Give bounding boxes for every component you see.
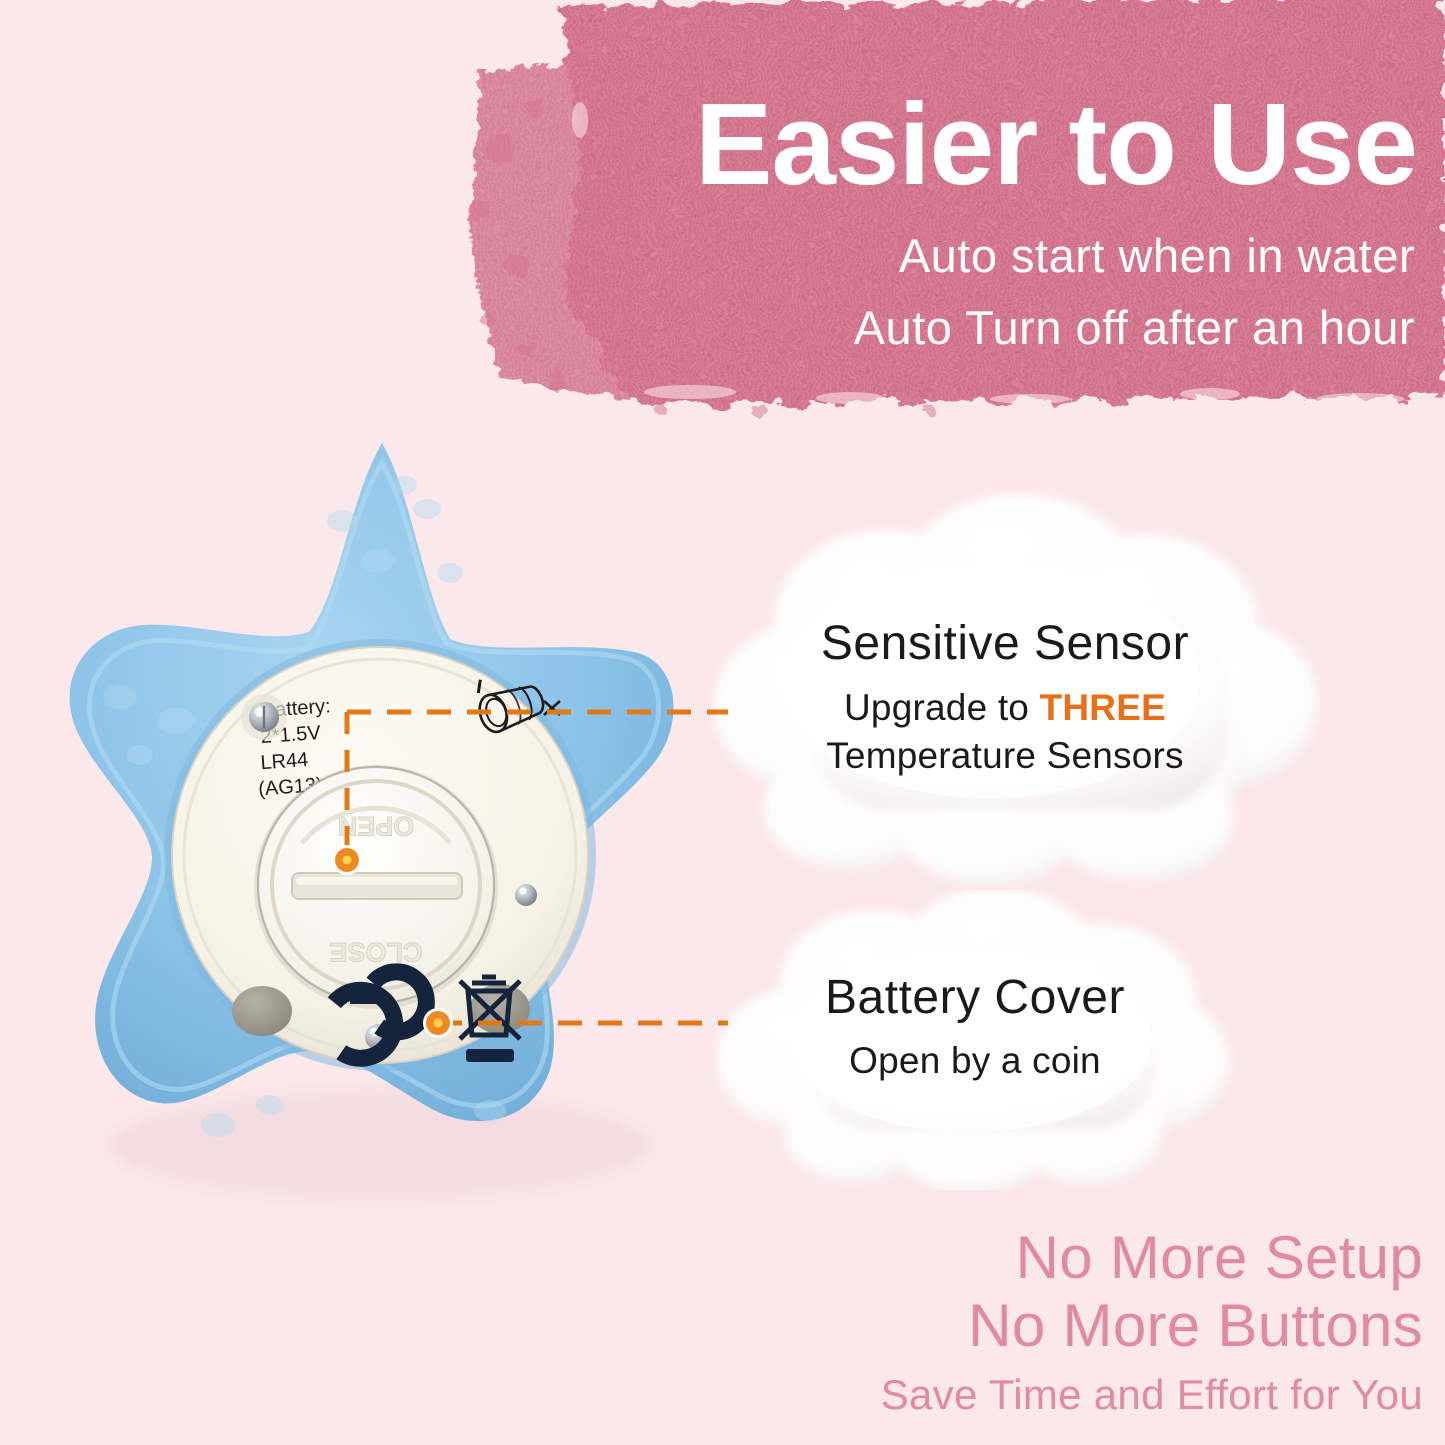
header-subtitle-1: Auto start when in water: [899, 228, 1415, 283]
callout-highlight-three: THREE: [1040, 687, 1166, 728]
product-image-star-thermometer: Battery: 2*1.5V LR44 (AG13): [20, 425, 760, 1225]
cover-open-text: OPEN: [338, 811, 415, 841]
star-thermometer-illustration: Battery: 2*1.5V LR44 (AG13): [20, 425, 760, 1225]
screw-top-left: [241, 694, 287, 740]
infographic-canvas: Easier to Use Auto start when in water A…: [0, 0, 1445, 1445]
weee-bin-bar: [466, 1049, 514, 1062]
banner-text-group: Easier to Use Auto start when in water A…: [330, 0, 1445, 425]
svg-text:LR44: LR44: [260, 749, 309, 774]
callout-cloud-sensitive-sensor: Sensitive Sensor Upgrade to THREE Temper…: [690, 490, 1320, 890]
footer-line-2: No More Buttons: [881, 1292, 1423, 1360]
callout-sub-open-by-coin: Open by a coin: [705, 1038, 1245, 1083]
temperature-sensor-pad-left: [232, 986, 292, 1036]
cover-close-text: CLOSE: [329, 937, 422, 967]
callout-title-battery-cover: Battery Cover: [705, 972, 1245, 1025]
callout-title-sensitive-sensor: Sensitive Sensor: [690, 618, 1320, 671]
footer-line-1: No More Setup: [881, 1224, 1423, 1292]
page-title: Easier to Use: [330, 85, 1417, 203]
footer-line-3: Save Time and Effort for You: [881, 1368, 1423, 1423]
callout-sub-prefix: Upgrade to: [844, 687, 1040, 728]
callout-cloud-battery-cover: Battery Cover Open by a coin: [705, 890, 1245, 1190]
callout-sub-temperature-sensors: Temperature Sensors: [690, 733, 1320, 778]
header-subtitle-2: Auto Turn off after an hour: [854, 300, 1415, 355]
footer-copy: No More Setup No More Buttons Save Time …: [881, 1224, 1423, 1423]
header-banner: Easier to Use Auto start when in water A…: [330, 0, 1445, 425]
callout-sub-upgrade: Upgrade to THREE: [690, 685, 1320, 730]
screw-right: [515, 884, 537, 906]
